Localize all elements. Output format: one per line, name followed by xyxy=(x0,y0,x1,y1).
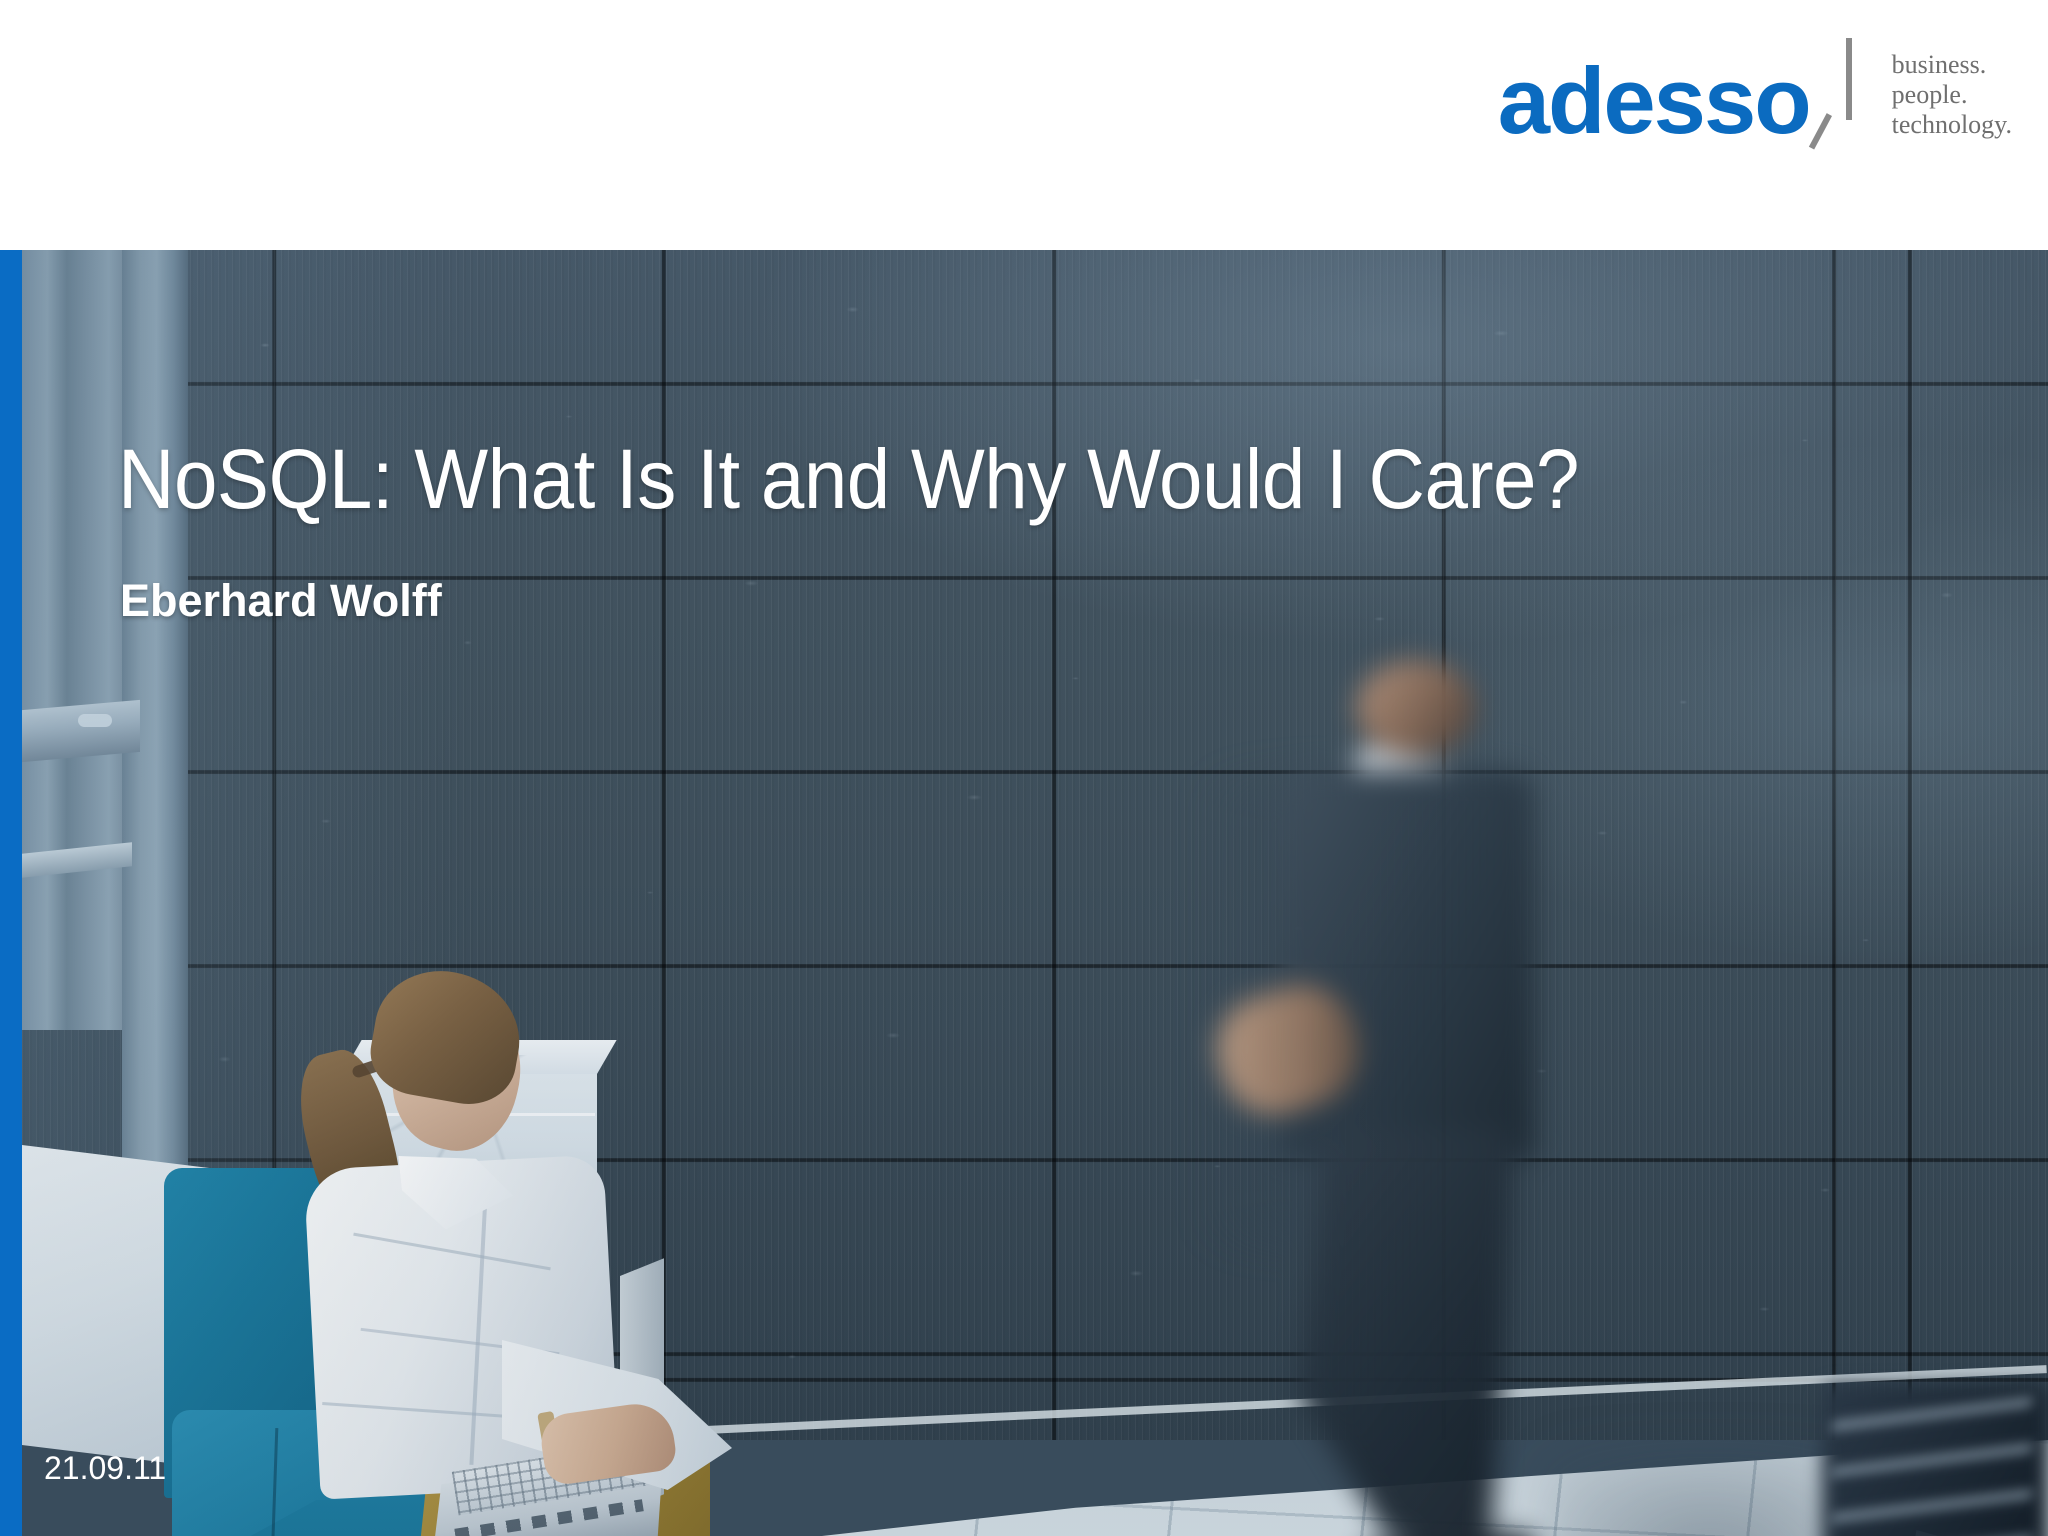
slide-header: adesso business. people. technology. xyxy=(0,0,2048,250)
window-shelf xyxy=(22,700,140,762)
businessman-trousers xyxy=(1298,1130,1516,1536)
adesso-logo[interactable]: adesso business. people. technology. xyxy=(1498,38,2012,148)
slide-author: Eberhard Wolff xyxy=(120,578,442,623)
businessman-head xyxy=(1356,660,1476,756)
presentation-slide: adesso business. people. technology. NoS… xyxy=(0,0,2048,1536)
tagline-line-technology: technology. xyxy=(1892,110,2012,140)
slide-date: 21.09.11 xyxy=(44,1452,166,1484)
adesso-wordmark: adesso xyxy=(1498,38,1810,148)
adesso-tagline: business. people. technology. xyxy=(1892,38,2012,140)
blurred-luggage-slats xyxy=(1832,1398,2032,1536)
logo-slash-tail xyxy=(1809,113,1832,149)
walking-businessman xyxy=(1252,660,1582,1536)
logo-slash-divider xyxy=(1824,38,1876,146)
tagline-line-people: people. xyxy=(1892,80,2012,110)
logo-slash-bar xyxy=(1846,38,1852,120)
slide-title: NoSQL: What Is It and Why Would I Care? xyxy=(118,437,1579,521)
window-bolt xyxy=(78,714,112,727)
left-accent-stripe xyxy=(0,250,22,1536)
tagline-line-business: business. xyxy=(1892,50,2012,80)
